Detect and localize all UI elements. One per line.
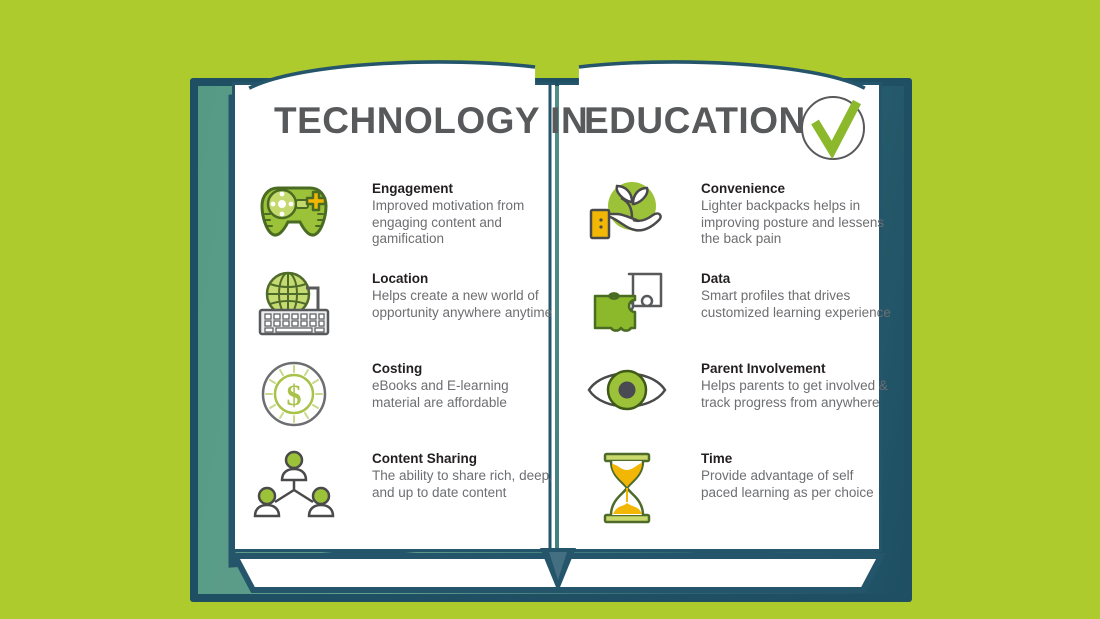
infographic-canvas: TECHNOLOGY IN EDUCATION [0,0,1100,619]
list-item-description: eBooks and E-learning material are affor… [372,378,557,411]
list-item-title: Convenience [701,180,891,197]
list-item-title: Data [701,270,891,287]
left-column: Engagement Improved motivation from enga… [248,180,553,540]
list-item-title: Location [372,270,557,287]
list-item-text: Data Smart profiles that drives customiz… [701,270,891,321]
list-item-title: Time [701,450,891,467]
list-item-description: Provide advantage of self paced learning… [701,468,891,501]
page-title-right: EDUCATION [584,100,806,142]
dollar-coin-icon: $ [248,360,340,438]
list-item-title: Engagement [372,180,557,197]
gamepad-icon [248,180,340,258]
page-right-top-curve [558,60,884,90]
list-item-title: Parent Involvement [701,360,891,377]
list-item-title: Content Sharing [372,450,557,467]
book-bottom-fan [213,546,903,598]
list-item: Parent Involvement Helps parents to get … [583,360,888,450]
hand-plant-icon [583,180,671,258]
list-item: Engagement Improved motivation from enga… [248,180,553,270]
list-item: Location Helps create a new world of opp… [248,270,553,360]
list-item-description: Helps parents to get involved & track pr… [701,378,891,411]
titles: TECHNOLOGY IN EDUCATION [232,100,882,158]
list-item-text: Convenience Lighter backpacks helps in i… [701,180,891,248]
list-item: Time Provide advantage of self paced lea… [583,450,888,540]
svg-text:$: $ [287,379,302,412]
hourglass-icon [583,450,671,528]
eye-icon [583,360,671,438]
list-item: $ Costing eBooks and E-learning material… [248,360,553,450]
list-item-description: The ability to share rich, deep, and up … [372,468,557,501]
page-left-top-curve [230,60,556,90]
list-item-text: Parent Involvement Helps parents to get … [701,360,891,411]
list-item-text: Location Helps create a new world of opp… [372,270,557,321]
puzzle-icon [583,270,671,348]
list-item-text: Content Sharing The ability to share ric… [372,450,557,501]
list-item-text: Costing eBooks and E-learning material a… [372,360,557,411]
list-item-text: Time Provide advantage of self paced lea… [701,450,891,501]
people-network-icon [248,450,340,528]
list-item-title: Costing [372,360,557,377]
list-item-text: Engagement Improved motivation from enga… [372,180,557,248]
checkmark-circle-icon [799,94,867,162]
list-item-description: Lighter backpacks helps in improving pos… [701,198,891,248]
globe-keyboard-icon [248,270,340,348]
list-item: Content Sharing The ability to share ric… [248,450,553,540]
list-item: Convenience Lighter backpacks helps in i… [583,180,888,270]
list-item-description: Helps create a new world of opportunity … [372,288,557,321]
right-column: Convenience Lighter backpacks helps in i… [583,180,888,540]
list-item: Data Smart profiles that drives customiz… [583,270,888,360]
list-item-description: Improved motivation from engaging conten… [372,198,557,248]
list-item-description: Smart profiles that drives customized le… [701,288,891,321]
page-title-left: TECHNOLOGY IN [274,100,588,142]
